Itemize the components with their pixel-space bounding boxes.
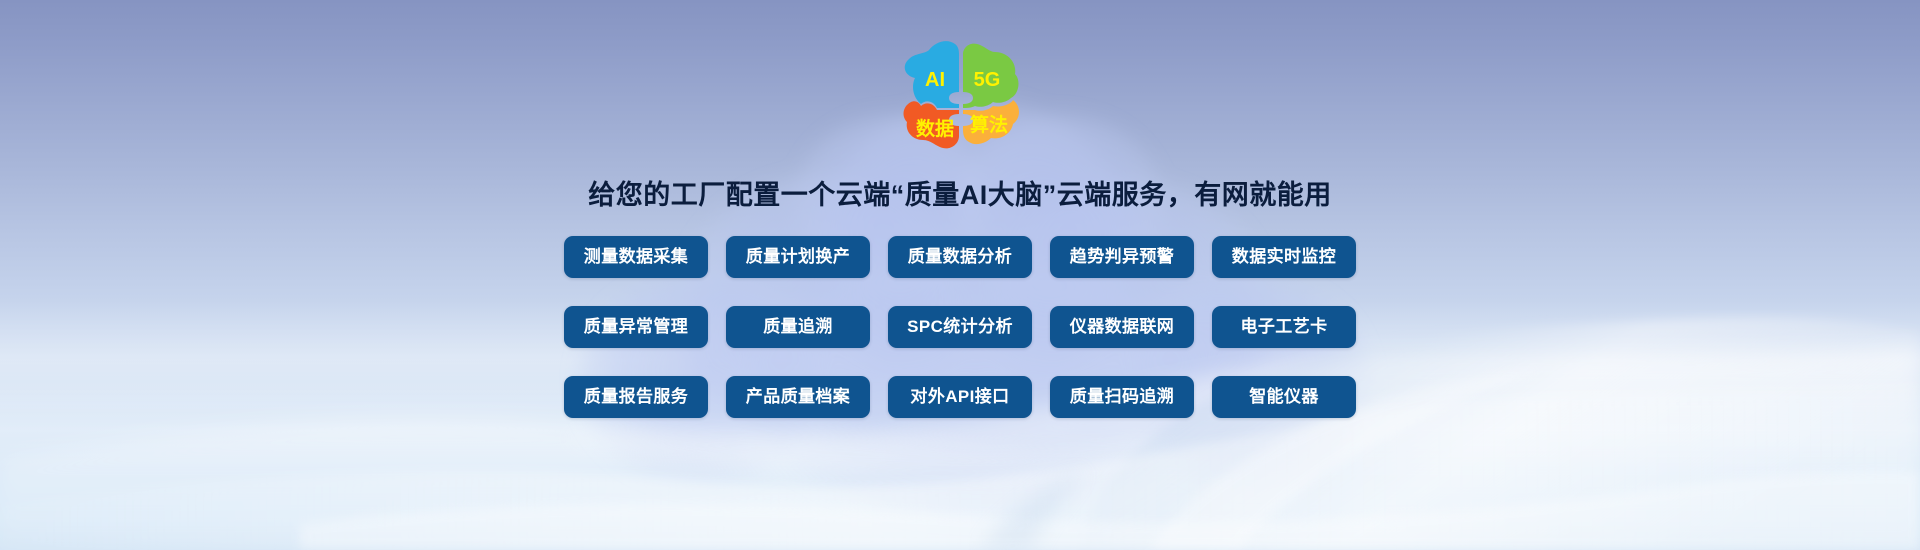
puzzle-label-algo: 算法 — [970, 113, 1008, 136]
feature-chip-instrument-data-networking[interactable]: 仪器数据联网 — [1050, 306, 1194, 348]
feature-row-2: 质量异常管理 质量追溯 SPC统计分析 仪器数据联网 电子工艺卡 — [564, 306, 1356, 348]
feature-chip-quality-exception-management[interactable]: 质量异常管理 — [564, 306, 708, 348]
feature-chip-spc-statistical-analysis[interactable]: SPC统计分析 — [888, 306, 1032, 348]
brain-puzzle-logo: AI 5G 数据 算法 — [885, 36, 1035, 151]
hero-banner: AI 5G 数据 算法 给您的工厂配置一个云端“质量AI大脑”云端服务，有网就能… — [0, 0, 1920, 550]
feature-chip-external-api-interface[interactable]: 对外API接口 — [888, 376, 1032, 418]
page-title: 给您的工厂配置一个云端“质量AI大脑”云端服务，有网就能用 — [588, 173, 1332, 212]
feature-chip-measure-data-collection[interactable]: 测量数据采集 — [564, 236, 708, 278]
feature-chip-product-quality-archive[interactable]: 产品质量档案 — [726, 376, 870, 418]
feature-row-1: 测量数据采集 质量计划换产 质量数据分析 趋势判异预警 数据实时监控 — [564, 236, 1356, 278]
feature-grid: 测量数据采集 质量计划换产 质量数据分析 趋势判异预警 数据实时监控 质量异常管… — [564, 236, 1356, 418]
feature-chip-quality-report-service[interactable]: 质量报告服务 — [564, 376, 708, 418]
puzzle-label-data: 数据 — [916, 117, 954, 140]
feature-chip-quality-scan-traceability[interactable]: 质量扫码追溯 — [1050, 376, 1194, 418]
feature-chip-quality-traceability[interactable]: 质量追溯 — [726, 306, 870, 348]
feature-chip-quality-data-analysis[interactable]: 质量数据分析 — [888, 236, 1032, 278]
feature-row-3: 质量报告服务 产品质量档案 对外API接口 质量扫码追溯 智能仪器 — [564, 376, 1356, 418]
feature-chip-trend-anomaly-alert[interactable]: 趋势判异预警 — [1050, 236, 1194, 278]
puzzle-label-ai: AI — [925, 69, 945, 91]
puzzle-label-5g: 5G — [974, 69, 1001, 91]
feature-chip-electronic-process-card[interactable]: 电子工艺卡 — [1212, 306, 1356, 348]
feature-chip-realtime-data-monitoring[interactable]: 数据实时监控 — [1212, 236, 1356, 278]
feature-chip-smart-instrument[interactable]: 智能仪器 — [1212, 376, 1356, 418]
feature-chip-quality-plan-changeover[interactable]: 质量计划换产 — [726, 236, 870, 278]
banner-content: AI 5G 数据 算法 给您的工厂配置一个云端“质量AI大脑”云端服务，有网就能… — [0, 0, 1920, 550]
